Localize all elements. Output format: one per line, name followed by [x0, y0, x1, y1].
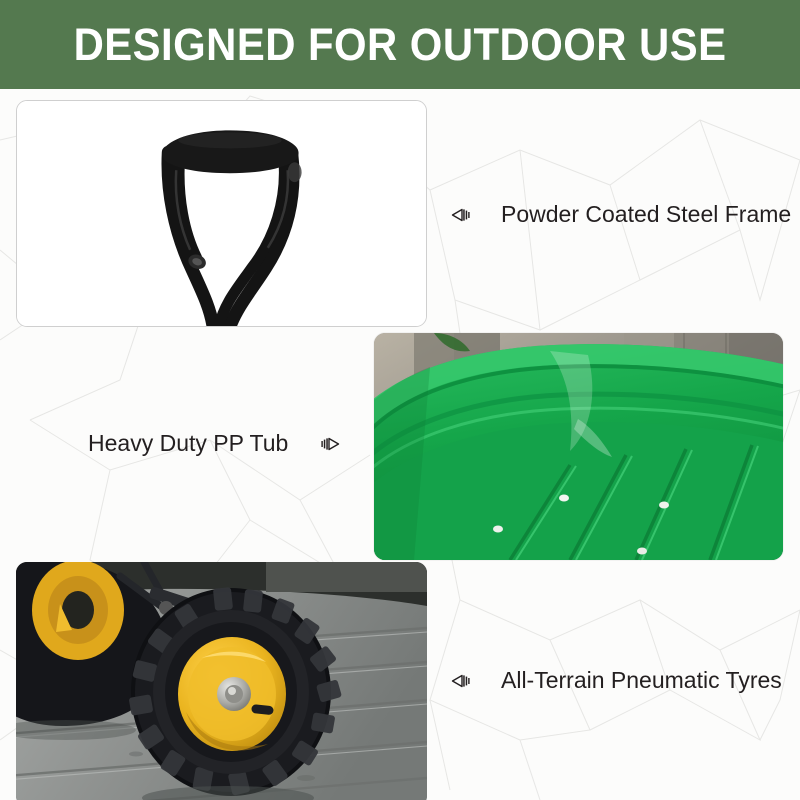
feature-label-frame: Powder Coated Steel Frame	[449, 202, 791, 227]
feature-label-tyres-text: All-Terrain Pneumatic Tyres	[501, 668, 782, 693]
feature-label-tyres: All-Terrain Pneumatic Tyres	[449, 668, 782, 693]
feature-image-tyres	[16, 562, 427, 800]
page-title: DESIGNED FOR OUTDOOR USE	[74, 22, 727, 67]
feature-label-frame-text: Powder Coated Steel Frame	[501, 202, 791, 227]
feature-image-frame	[16, 100, 427, 327]
feature-image-tub	[374, 333, 783, 560]
header-banner: DESIGNED FOR OUTDOOR USE	[0, 0, 800, 89]
pneumatic-tyres-photo	[16, 562, 427, 800]
green-pp-tub-photo	[374, 333, 783, 560]
feature-label-tub: Heavy Duty PP Tub	[88, 431, 342, 456]
feature-label-tub-text: Heavy Duty PP Tub	[88, 431, 288, 456]
triangle-right-marker-icon	[320, 433, 342, 455]
black-loop-handle-photo	[17, 101, 426, 326]
triangle-left-marker-icon	[449, 670, 471, 692]
triangle-left-marker-icon	[449, 204, 471, 226]
infographic-page: DESIGNED FOR OUTDOOR USE	[0, 0, 800, 800]
